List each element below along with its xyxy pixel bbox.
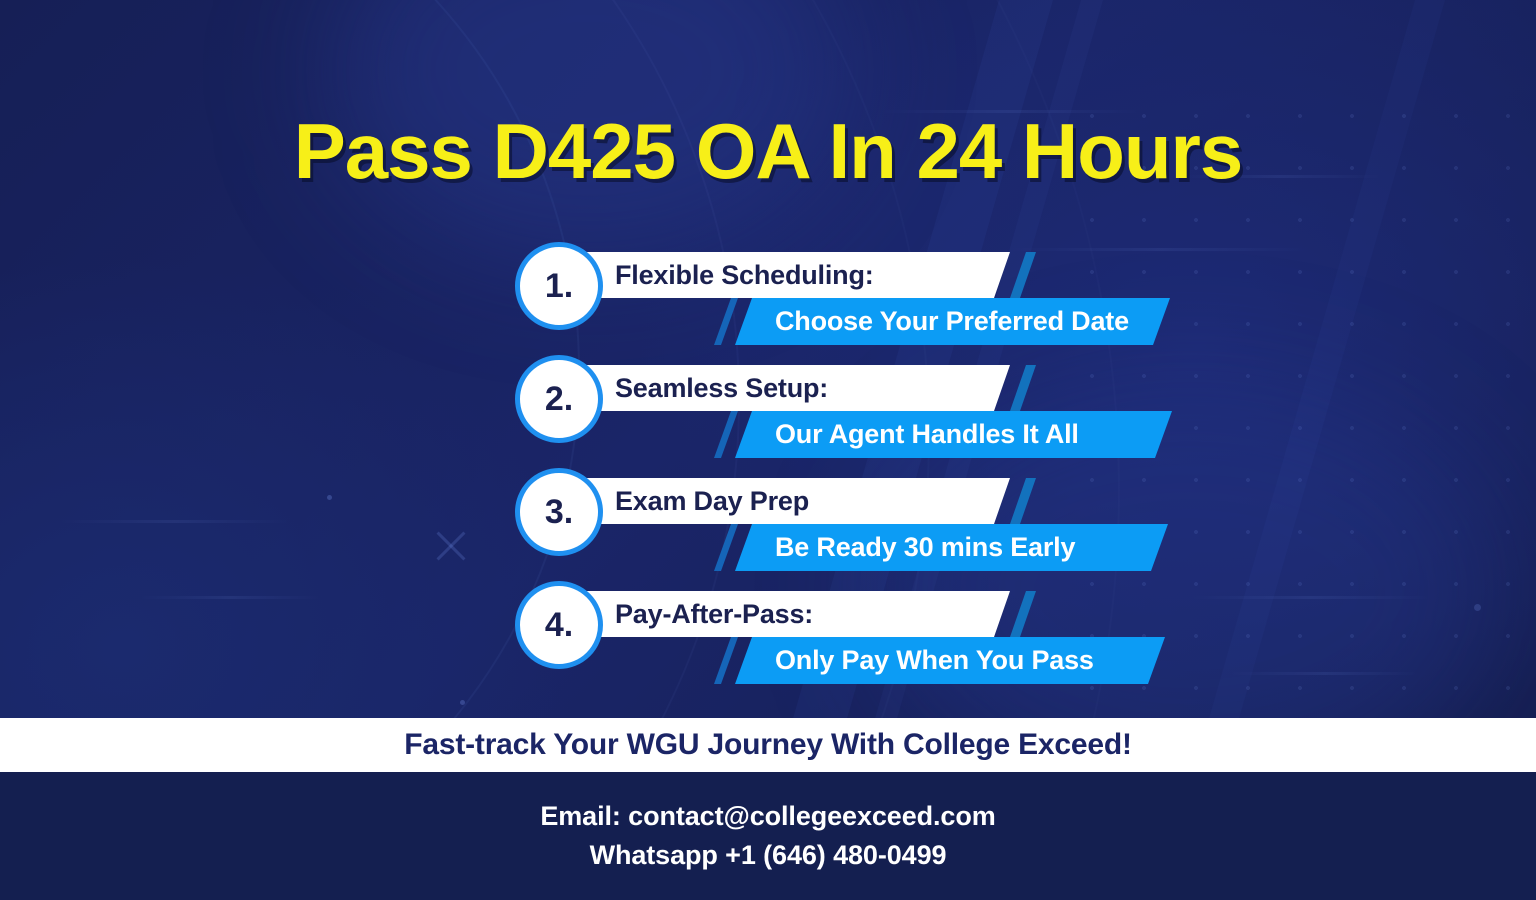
step-row: 4. Pay-After-Pass: Only Pay When You Pas… <box>0 579 1536 692</box>
contact-whatsapp[interactable]: Whatsapp +1 (646) 480-0499 <box>590 840 947 871</box>
step-detail-accent <box>714 524 738 571</box>
contact-email[interactable]: Email: contact@collegeexceed.com <box>540 801 995 832</box>
step-detail-accent <box>714 298 738 345</box>
step-headline-text: Flexible Scheduling: <box>560 260 874 291</box>
tagline-strip: Fast-track Your WGU Journey With College… <box>0 718 1536 772</box>
step-headline-banner: Exam Day Prep <box>560 478 1010 524</box>
step-detail-banner: Be Ready 30 mins Early <box>735 524 1168 571</box>
step-detail-text: Choose Your Preferred Date <box>735 306 1129 337</box>
step-detail-banner: Our Agent Handles It All <box>735 411 1172 458</box>
step-detail-text: Only Pay When You Pass <box>735 645 1094 676</box>
step-row: 2. Seamless Setup: Our Agent Handles It … <box>0 353 1536 466</box>
contact-strip: Email: contact@collegeexceed.com Whatsap… <box>0 772 1536 900</box>
step-headline-banner: Seamless Setup: <box>560 365 1010 411</box>
poster-title: Pass D425 OA In 24 Hours <box>0 106 1536 197</box>
step-number-badge: 4. <box>515 581 603 669</box>
step-number-badge: 1. <box>515 242 603 330</box>
steps-list: 1. Flexible Scheduling: Choose Your Pref… <box>0 240 1536 692</box>
step-number-badge: 3. <box>515 468 603 556</box>
step-headline-accent <box>1010 252 1036 298</box>
step-detail-banner: Choose Your Preferred Date <box>735 298 1170 345</box>
step-detail-text: Be Ready 30 mins Early <box>735 532 1075 563</box>
step-row: 1. Flexible Scheduling: Choose Your Pref… <box>0 240 1536 353</box>
step-row: 3. Exam Day Prep Be Ready 30 mins Early <box>0 466 1536 579</box>
step-headline-banner: Flexible Scheduling: <box>560 252 1010 298</box>
step-detail-text: Our Agent Handles It All <box>735 419 1079 450</box>
tagline-text: Fast-track Your WGU Journey With College… <box>404 728 1132 762</box>
step-detail-banner: Only Pay When You Pass <box>735 637 1165 684</box>
step-detail-accent <box>714 411 738 458</box>
step-headline-accent <box>1010 591 1036 637</box>
promo-poster: Pass D425 OA In 24 Hours 1. Flexible Sch… <box>0 0 1536 900</box>
step-detail-accent <box>714 637 738 684</box>
step-headline-accent <box>1010 365 1036 411</box>
step-number-badge: 2. <box>515 355 603 443</box>
step-headline-banner: Pay-After-Pass: <box>560 591 1010 637</box>
step-headline-accent <box>1010 478 1036 524</box>
accent-dot <box>460 700 465 705</box>
